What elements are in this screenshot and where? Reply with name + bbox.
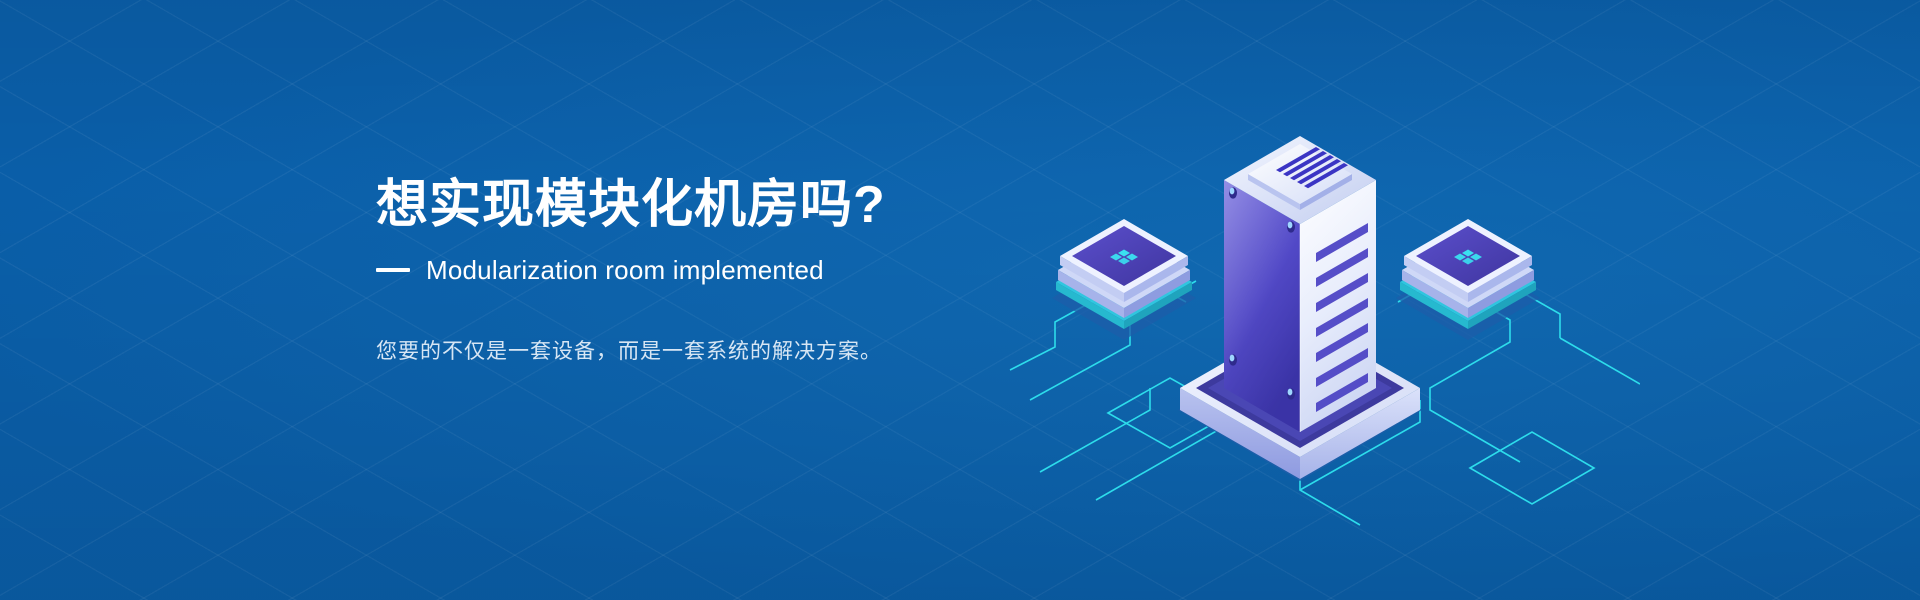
subtitle-english: Modularization room implemented [426,255,824,286]
description-text: 您要的不仅是一套设备，而是一套系统的解决方案。 [376,336,1136,368]
server-tower [1224,136,1376,432]
page-title: 想实现模块化机房吗? [376,178,1136,233]
hero-copy: 想实现模块化机房吗? Modularization room implement… [376,178,1136,388]
subtitle-row: Modularization room implemented [376,255,1136,286]
chip-module-right [1396,219,1540,340]
hero-banner: 想实现模块化机房吗? Modularization room implement… [0,0,1920,600]
accent-dash-icon [376,268,410,272]
